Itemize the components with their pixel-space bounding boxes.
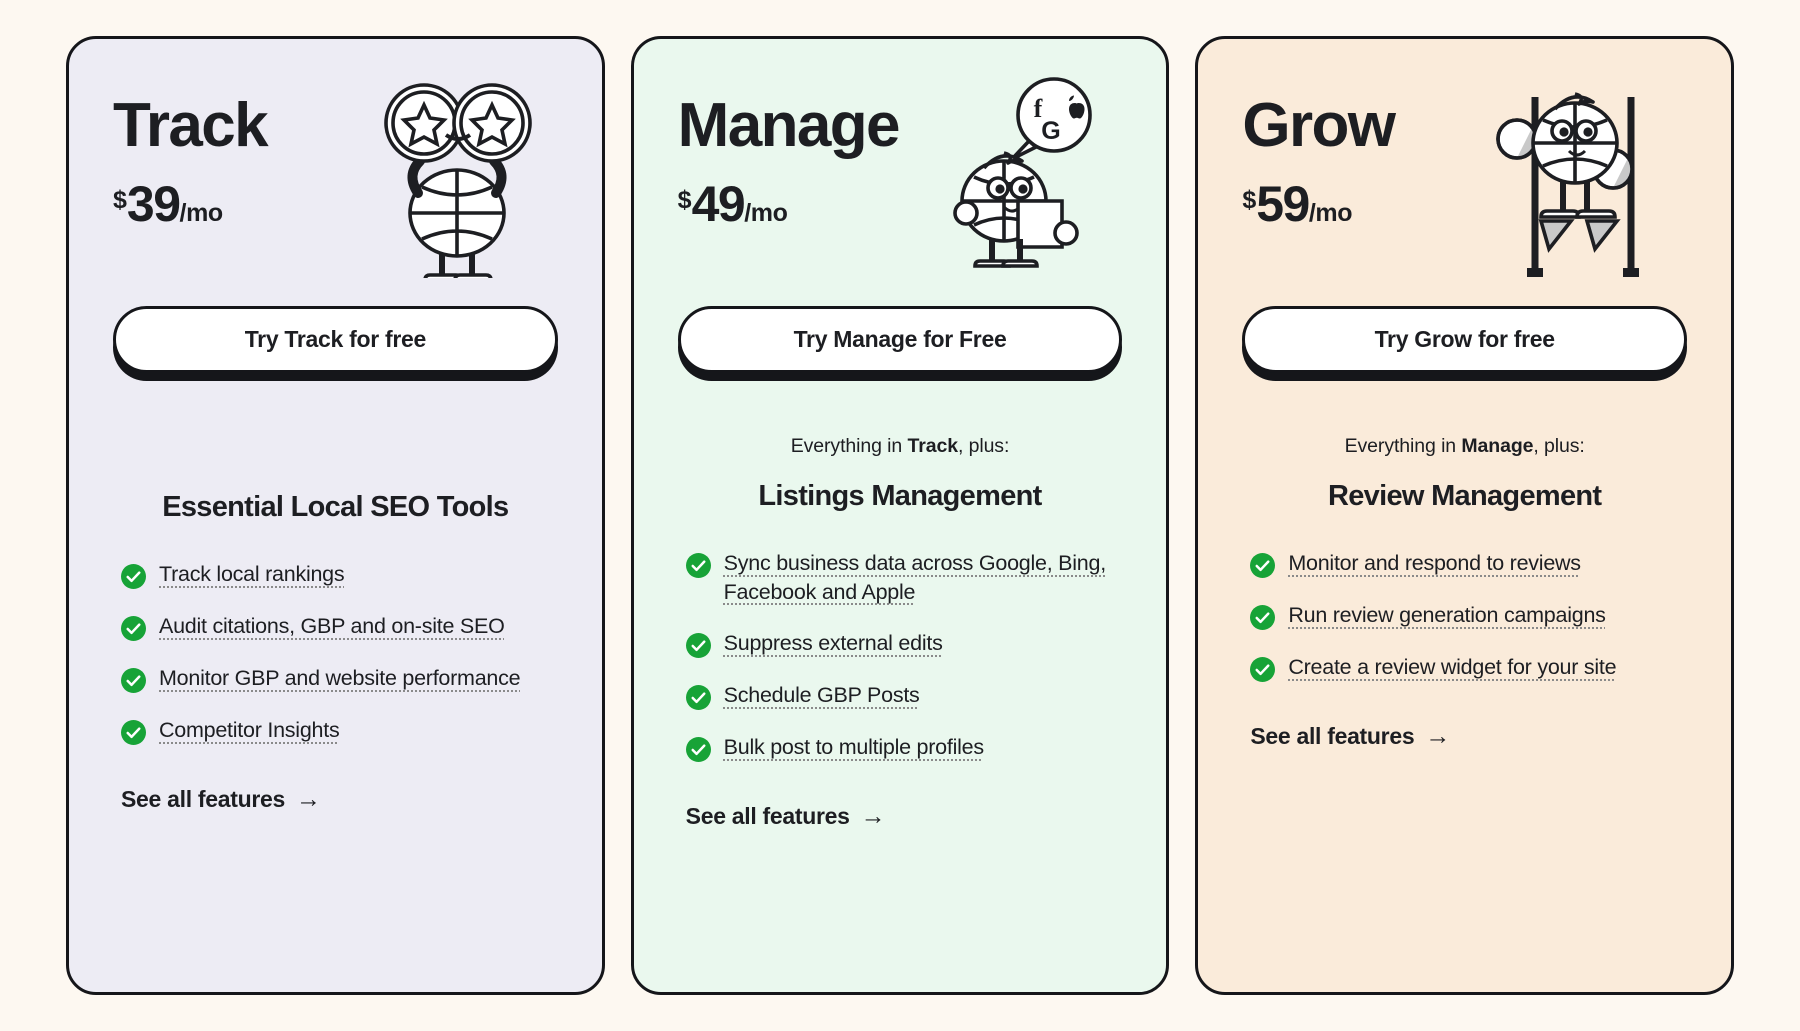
everything-plan-name: Track — [907, 435, 957, 457]
plan-header-grow: Grow $ 59 /mo — [1242, 73, 1687, 288]
feature-label[interactable]: Suppress external edits — [724, 629, 943, 658]
section-title-track: Essential Local SEO Tools — [113, 491, 558, 524]
plan-header-text-grow: Grow $ 59 /mo — [1242, 73, 1394, 233]
spacer — [678, 830, 1123, 952]
check-circle-icon — [686, 633, 711, 658]
check-circle-icon — [1250, 657, 1275, 682]
globe-mascot-on-stilts-icon — [1491, 73, 1681, 278]
feature-item: Schedule GBP Posts — [686, 681, 1123, 710]
feature-item: Create a review widget for your site — [1250, 653, 1687, 682]
feature-label[interactable]: Track local rankings — [159, 560, 344, 589]
pricing-plans-grid: Track $ 39 /mo — [0, 0, 1800, 1031]
feature-item: Suppress external edits — [686, 629, 1123, 658]
plan-name-track: Track — [113, 95, 267, 157]
price-period-manage: /mo — [744, 199, 787, 228]
price-amount-grow: 59 — [1256, 175, 1309, 233]
everything-plan-name: Manage — [1461, 435, 1533, 457]
section-title-manage: Listings Management — [678, 480, 1123, 513]
check-circle-icon — [1250, 605, 1275, 630]
svg-text:G: G — [1042, 117, 1061, 145]
check-circle-icon — [686, 737, 711, 762]
arrow-right-icon: → — [1425, 724, 1450, 749]
see-all-features-label: See all features — [686, 803, 850, 830]
section-title-grow: Review Management — [1242, 480, 1687, 513]
try-manage-button[interactable]: Try Manage for Free — [678, 306, 1123, 373]
feature-label[interactable]: Monitor and respond to reviews — [1288, 549, 1580, 578]
plan-price-manage: $ 49 /mo — [678, 175, 899, 233]
price-currency-track: $ — [113, 186, 127, 215]
spacer — [1242, 750, 1687, 952]
everything-in-line-grow: Everything in Manage, plus: — [1242, 435, 1687, 458]
feature-label[interactable]: Audit citations, GBP and on-site SEO — [159, 612, 505, 641]
check-circle-icon — [121, 668, 146, 693]
cta-wrap-grow: Try Grow for free — [1242, 306, 1687, 383]
feature-label[interactable]: Create a review widget for your site — [1288, 653, 1616, 682]
plan-header-manage: Manage $ 49 /mo f G — [678, 73, 1123, 288]
globe-mascot-speech-bubble-icon: f G — [926, 73, 1116, 278]
try-grow-button[interactable]: Try Grow for free — [1242, 306, 1687, 373]
binoculars-globe-mascot-icon — [362, 73, 552, 278]
price-currency-manage: $ — [678, 186, 692, 215]
plan-header-track: Track $ 39 /mo — [113, 73, 558, 288]
plan-name-grow: Grow — [1242, 95, 1394, 157]
everything-in-line-manage: Everything in Track, plus: — [678, 435, 1123, 458]
check-circle-icon — [686, 553, 711, 578]
see-all-features-label: See all features — [121, 786, 285, 813]
check-circle-icon — [121, 564, 146, 589]
see-all-features-link-grow[interactable]: See all features → — [1242, 723, 1687, 750]
feature-item: Monitor GBP and website performance — [121, 664, 558, 693]
feature-label[interactable]: Monitor GBP and website performance — [159, 664, 520, 693]
feature-list-track: Track local rankings Audit citations, GB… — [113, 560, 558, 768]
feature-item: Competitor Insights — [121, 716, 558, 745]
feature-item: Monitor and respond to reviews — [1250, 549, 1687, 578]
check-circle-icon — [121, 616, 146, 641]
price-currency-grow: $ — [1242, 186, 1256, 215]
check-circle-icon — [121, 720, 146, 745]
see-all-features-link-track[interactable]: See all features → — [113, 786, 558, 813]
feature-item: Audit citations, GBP and on-site SEO — [121, 612, 558, 641]
plan-card-grow: Grow $ 59 /mo — [1195, 36, 1734, 995]
plan-name-manage: Manage — [678, 95, 899, 157]
feature-label[interactable]: Competitor Insights — [159, 716, 339, 745]
price-period-track: /mo — [180, 199, 223, 228]
feature-item: Sync business data across Google, Bing, … — [686, 549, 1123, 606]
arrow-right-icon: → — [861, 804, 886, 829]
everything-suffix: , plus: — [958, 435, 1009, 457]
check-circle-icon — [1250, 553, 1275, 578]
cta-wrap-manage: Try Manage for Free — [678, 306, 1123, 383]
everything-suffix: , plus: — [1533, 435, 1584, 457]
plan-header-text-manage: Manage $ 49 /mo — [678, 73, 899, 233]
price-amount-manage: 49 — [692, 175, 745, 233]
feature-label[interactable]: Schedule GBP Posts — [724, 681, 920, 710]
plan-price-grow: $ 59 /mo — [1242, 175, 1394, 233]
feature-item: Track local rankings — [121, 560, 558, 589]
feature-item: Bulk post to multiple profiles — [686, 733, 1123, 762]
see-all-features-label: See all features — [1250, 723, 1414, 750]
try-track-button[interactable]: Try Track for free — [113, 306, 558, 373]
arrow-right-icon: → — [296, 787, 321, 812]
feature-label[interactable]: Run review generation campaigns — [1288, 601, 1605, 630]
cta-wrap-track: Try Track for free — [113, 306, 558, 383]
everything-prefix: Everything in — [1345, 435, 1462, 457]
see-all-features-link-manage[interactable]: See all features → — [678, 803, 1123, 830]
price-amount-track: 39 — [127, 175, 180, 233]
price-period-grow: /mo — [1309, 199, 1352, 228]
check-circle-icon — [686, 685, 711, 710]
feature-label[interactable]: Bulk post to multiple profiles — [724, 733, 984, 762]
plan-card-track: Track $ 39 /mo — [66, 36, 605, 995]
everything-prefix: Everything in — [791, 435, 908, 457]
plan-card-manage: Manage $ 49 /mo f G — [631, 36, 1170, 995]
feature-list-grow: Monitor and respond to reviews Run revie… — [1242, 549, 1687, 705]
feature-label[interactable]: Sync business data across Google, Bing, … — [724, 549, 1123, 606]
spacer — [113, 813, 558, 952]
feature-list-manage: Sync business data across Google, Bing, … — [678, 549, 1123, 785]
feature-item: Run review generation campaigns — [1250, 601, 1687, 630]
plan-header-text-track: Track $ 39 /mo — [113, 73, 267, 233]
plan-price-track: $ 39 /mo — [113, 175, 267, 233]
